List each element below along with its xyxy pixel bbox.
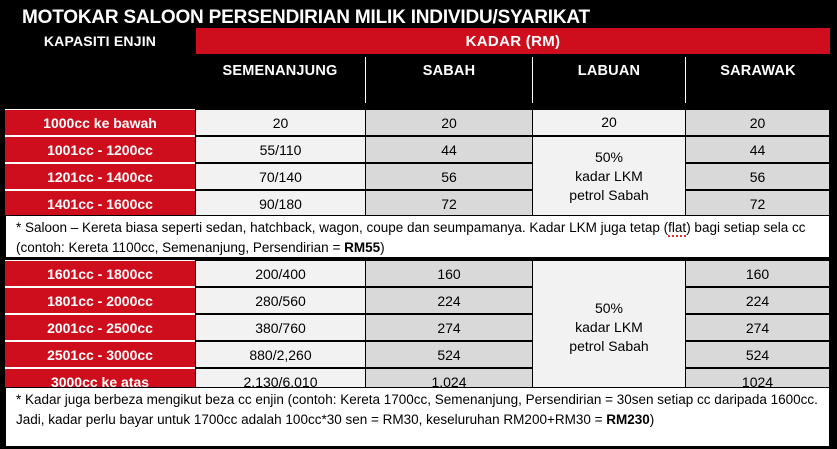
rate-table-top: 1000cc ke bawah202020201001cc - 1200cc55… [0, 109, 837, 217]
header-spacer [5, 57, 195, 103]
cell-sabah: 274 [365, 314, 532, 341]
row-capacity-label: 2501cc - 3000cc [5, 341, 195, 368]
cell-semenanjung: 880/2,260 [195, 341, 365, 368]
note-kadar-berbeza: * Kadar juga berbeza mengikut beza cc en… [5, 387, 830, 447]
right-gutter [830, 260, 837, 287]
table-row: 1001cc - 1200cc55/1104444 [0, 136, 837, 163]
cell-semenanjung: 200/400 [195, 260, 365, 287]
cell-sarawak: 524 [685, 341, 830, 368]
cell-sarawak: 274 [685, 314, 830, 341]
cell-labuan: 20 [532, 109, 685, 136]
labuan-note-line-1: 50% [595, 148, 623, 167]
note-kadar-part1: * Kadar juga berbeza mengikut beza cc en… [16, 392, 818, 427]
row-capacity-label: 1201cc - 1400cc [5, 163, 195, 190]
column-header-labuan: LABUAN [532, 57, 685, 103]
cell-sarawak: 44 [685, 136, 830, 163]
note-saloon-amount: RM55 [344, 240, 380, 255]
table-row: 1000cc ke bawah20202020 [0, 109, 837, 136]
note-saloon: * Saloon – Kereta biasa seperti sedan, h… [5, 215, 830, 258]
cell-semenanjung: 280/560 [195, 287, 365, 314]
cell-sabah: 44 [365, 136, 532, 163]
cell-semenanjung: 70/140 [195, 163, 365, 190]
labuan-note-line-2: kadar LKM [575, 167, 643, 186]
table-row: 1601cc - 1800cc200/400160160 [0, 260, 837, 287]
labuan-note-line-3: petrol Sabah [569, 337, 648, 356]
right-gutter [830, 368, 837, 395]
cell-semenanjung: 20 [195, 109, 365, 136]
table-row: 2001cc - 2500cc380/760274274 [0, 314, 837, 341]
row-capacity-label: 2001cc - 2500cc [5, 314, 195, 341]
table-row: 1201cc - 1400cc70/1405656 [0, 163, 837, 190]
row-capacity-label: 1401cc - 1600cc [5, 190, 195, 217]
note-kadar-amount: RM230 [606, 412, 650, 427]
column-header-sarawak: SARAWAK [685, 57, 830, 103]
labuan-note-line-2: kadar LKM [575, 318, 643, 337]
cell-sabah: 72 [365, 190, 532, 217]
labuan-merged-note-top: 50% kadar LKM petrol Sabah [532, 136, 685, 217]
labuan-merged-note-bottom: 50% kadar LKM petrol Sabah [532, 260, 685, 395]
row-capacity-label: 1001cc - 1200cc [5, 136, 195, 163]
row-capacity-label: 1601cc - 1800cc [5, 260, 195, 287]
rate-table-sheet: MOTOKAR SALOON PERSENDIRIAN MILIK INDIVI… [0, 0, 837, 449]
cell-sarawak: 224 [685, 287, 830, 314]
column-header-row: SEMENANJUNG SABAH LABUAN SARAWAK [0, 57, 837, 103]
right-gutter [830, 287, 837, 314]
right-gutter [830, 136, 837, 163]
cell-sabah: 20 [365, 109, 532, 136]
cell-semenanjung: 90/180 [195, 190, 365, 217]
table-row: 1401cc - 1600cc90/1807272 [0, 190, 837, 217]
table-row: 2501cc - 3000cc880/2,260524524 [0, 341, 837, 368]
right-gutter [830, 314, 837, 341]
labuan-note-line-3: petrol Sabah [569, 186, 648, 205]
header-kadar-rm: KADAR (RM) [196, 28, 830, 54]
column-header-semenanjung: SEMENANJUNG [195, 57, 365, 103]
column-header-sabah: SABAH [365, 57, 532, 103]
header-kapasiti-enjin: KAPASITI ENJIN [5, 28, 195, 54]
right-gutter [830, 57, 837, 103]
row-capacity-label: 1801cc - 2000cc [5, 287, 195, 314]
rate-table-bottom: 1601cc - 1800cc200/4001601601801cc - 200… [0, 260, 837, 395]
labuan-note-line-1: 50% [595, 299, 623, 318]
cell-sabah: 224 [365, 287, 532, 314]
cell-sabah: 160 [365, 260, 532, 287]
cell-sarawak: 160 [685, 260, 830, 287]
note-saloon-part3: ) [380, 240, 385, 255]
right-gutter [830, 190, 837, 217]
cell-semenanjung: 380/760 [195, 314, 365, 341]
right-gutter [830, 163, 837, 190]
cell-sabah: 524 [365, 341, 532, 368]
right-gutter [830, 341, 837, 368]
note-saloon-part1: * Saloon – Kereta biasa seperti sedan, h… [16, 220, 668, 235]
note-kadar-part2: ) [650, 412, 655, 427]
cell-sabah: 56 [365, 163, 532, 190]
page-title: MOTOKAR SALOON PERSENDIRIAN MILIK INDIVI… [22, 7, 590, 29]
cell-sarawak: 72 [685, 190, 830, 217]
right-gutter [830, 109, 837, 136]
note-saloon-spellcheck-word: flat [668, 220, 686, 237]
row-capacity-label: 1000cc ke bawah [5, 109, 195, 136]
cell-sarawak: 56 [685, 163, 830, 190]
table-row: 1801cc - 2000cc280/560224224 [0, 287, 837, 314]
cell-semenanjung: 55/110 [195, 136, 365, 163]
cell-sarawak: 20 [685, 109, 830, 136]
